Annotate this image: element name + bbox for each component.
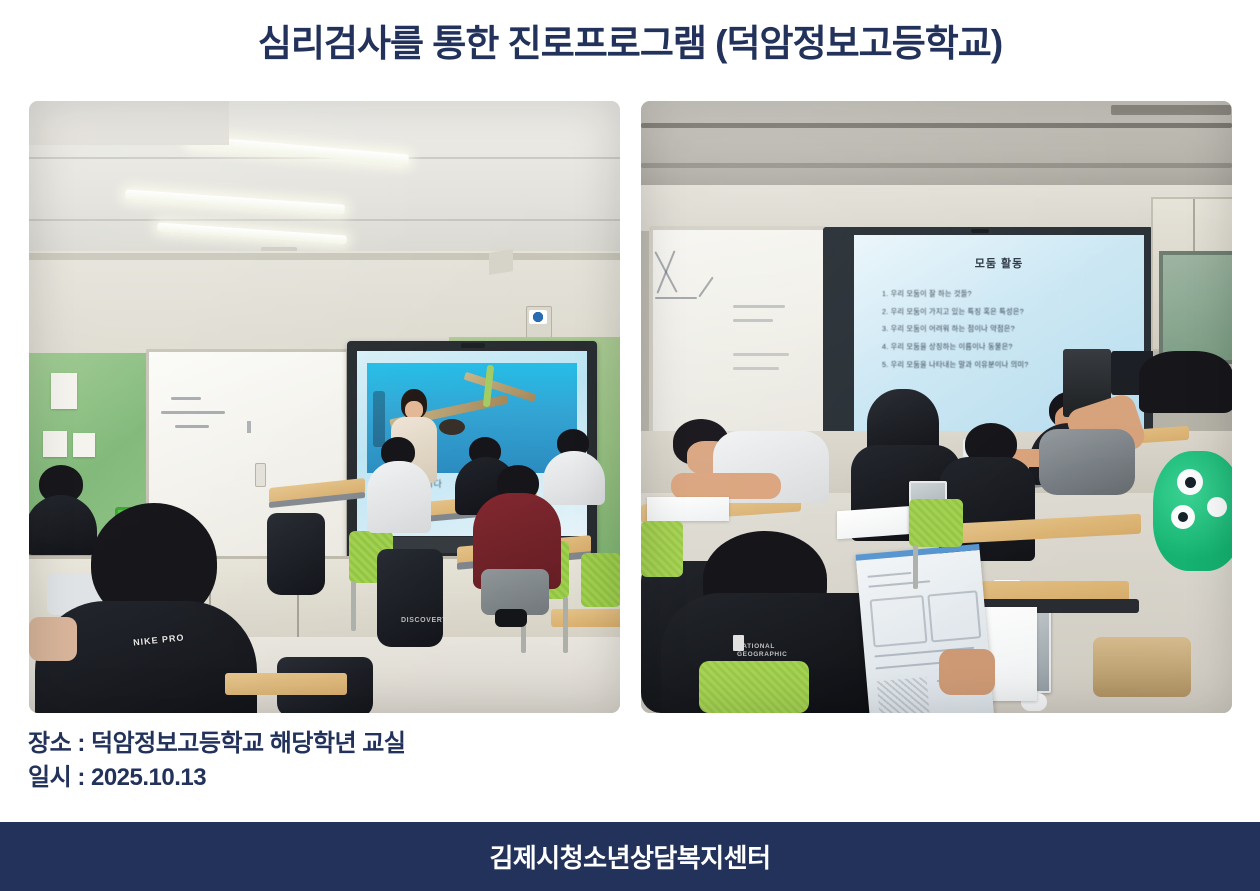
display-camera-bar — [461, 343, 485, 348]
report-line — [867, 572, 911, 578]
chair-leg — [913, 545, 918, 589]
location-line: 장소 : 덕암정보고등학교 해당학년 교실 — [28, 727, 405, 761]
arm — [29, 617, 77, 661]
display-camera-bar — [971, 229, 989, 233]
hand — [939, 649, 995, 695]
classroom-lecture-photo: 진로를 찾아봅시다 — [29, 101, 620, 713]
whiteboard-writing — [247, 421, 251, 433]
slide-item: 1. 우리 모둠이 잘 하는 것들? — [882, 285, 1122, 303]
report-line — [868, 580, 930, 587]
chair — [581, 553, 620, 607]
screen-shadow — [373, 391, 385, 447]
whiteboard-writing — [733, 305, 785, 308]
ceiling-beam — [1111, 105, 1231, 115]
posted-paper — [43, 431, 67, 457]
student-head — [1139, 351, 1232, 413]
ceiling-mount — [489, 249, 513, 275]
right-photo-scene: 모둠 활동 1. 우리 모둠이 잘 하는 것들? 2. 우리 모둠이 가지고 있… — [641, 101, 1232, 713]
slide-item: 3. 우리 모둠이 어려워 하는 점이나 약점은? — [882, 320, 1122, 338]
upper-wall — [641, 185, 1232, 231]
pencil-case — [1093, 637, 1191, 697]
slide-item: 2. 우리 모둠이 가지고 있는 특징 혹은 특성은? — [882, 303, 1122, 321]
chair — [699, 661, 809, 713]
whiteboard-writing — [161, 411, 225, 414]
brand-logo-icon — [733, 635, 744, 651]
backpack-brand-label: DISCOVERY — [401, 617, 447, 624]
worksheet — [647, 497, 729, 521]
ac-unit — [29, 101, 229, 145]
shoe — [495, 609, 527, 627]
speaker-logo-icon — [529, 310, 547, 324]
whiteboard-writing — [733, 319, 773, 322]
whiteboard — [649, 226, 827, 444]
posted-paper — [73, 433, 95, 457]
hand-shape — [439, 419, 465, 435]
organization-name: 김제시청소년상담복지센터 — [489, 838, 770, 875]
chair — [909, 499, 963, 547]
hoodie-eye-pupil — [1178, 512, 1188, 522]
photo-gallery: 진로를 찾아봅시다 — [29, 101, 1232, 713]
footer-bar: 김제시청소년상담복지센터 — [0, 822, 1260, 891]
wall-band — [29, 253, 620, 260]
page-title: 심리검사를 통한 진로프로그램 (덕암정보고등학교) — [0, 22, 1260, 66]
report-chart-box — [870, 595, 928, 648]
group-activity-photo: 모둠 활동 1. 우리 모둠이 잘 하는 것들? 2. 우리 모둠이 가지고 있… — [641, 101, 1232, 713]
whiteboard-diagram — [655, 297, 697, 299]
student-body — [543, 451, 605, 505]
chair-leg — [351, 581, 356, 631]
hoodie-eye-pupil — [1185, 477, 1196, 488]
whiteboard-writing — [171, 397, 201, 400]
slide-title: 모둠 활동 — [854, 255, 1144, 271]
ceiling-rail — [641, 123, 1232, 128]
student-body — [367, 461, 431, 533]
whiteboard-writing — [733, 353, 789, 356]
whiteboard-writing — [733, 367, 779, 370]
left-photo-scene: 진로를 찾아봅시다 — [29, 101, 620, 713]
ceiling-rail — [641, 163, 1232, 168]
report-pattern — [877, 677, 930, 713]
whiteboard-marker — [255, 463, 266, 487]
sleeve — [1039, 429, 1135, 495]
event-details: 장소 : 덕암정보고등학교 해당학년 교실 일시 : 2025.10.13 — [28, 727, 405, 795]
window — [1159, 251, 1232, 364]
desk — [225, 673, 347, 695]
jacket-brand-label: NATIONAL GEOGRAPHIC — [737, 643, 785, 659]
hoodie-eye-decoration — [1207, 497, 1227, 517]
backpack — [377, 549, 443, 647]
chair-leg — [563, 597, 568, 653]
posted-paper — [51, 373, 77, 409]
backpack — [267, 513, 325, 595]
student-arms — [671, 473, 781, 499]
chair — [641, 521, 683, 577]
ceiling-seam — [29, 219, 620, 221]
whiteboard-writing — [175, 425, 209, 428]
date-line: 일시 : 2025.10.13 — [28, 761, 405, 795]
report-chart-box — [927, 590, 981, 642]
desk — [551, 609, 620, 627]
